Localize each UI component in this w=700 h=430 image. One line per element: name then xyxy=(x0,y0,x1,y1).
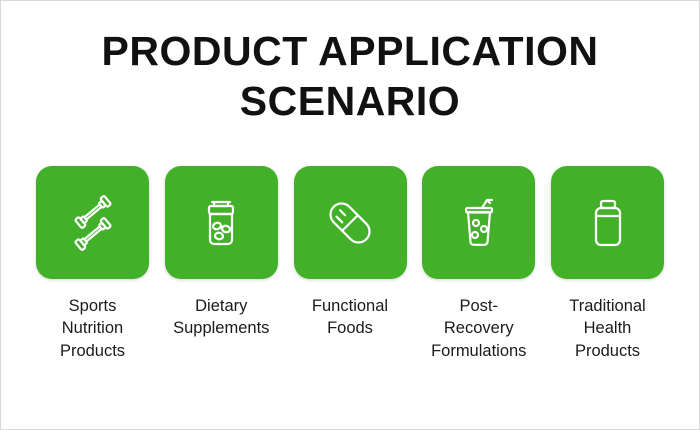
card-label-line: Supplements xyxy=(156,317,286,339)
scenario-card-dietary-supplements[interactable]: Dietary Supplements xyxy=(165,166,278,362)
infographic-page: PRODUCT APPLICATION SCENARIO xyxy=(0,0,700,430)
supplement-bottle-pills-icon xyxy=(188,190,254,256)
card-label: Dietary Supplements xyxy=(156,295,286,340)
title-line-2: SCENARIO xyxy=(0,76,700,126)
medicine-jar-icon xyxy=(575,190,641,256)
title-line-1: PRODUCT APPLICATION xyxy=(0,26,700,76)
card-label-line: Foods xyxy=(285,317,415,339)
card-label-line: Products xyxy=(543,340,673,362)
card-label-line: Nutrition xyxy=(28,317,158,339)
card-label-line: Recovery xyxy=(414,317,544,339)
scenario-card-functional-foods[interactable]: Functional Foods xyxy=(294,166,407,362)
card-label-line: Products xyxy=(28,340,158,362)
card-label-line: Health xyxy=(543,317,673,339)
scenario-card-sports-nutrition[interactable]: Sports Nutrition Products xyxy=(36,166,149,362)
dumbbell-icon xyxy=(60,190,126,256)
card-label-line: Dietary xyxy=(156,295,286,317)
icon-tile xyxy=(165,166,278,279)
icon-tile xyxy=(36,166,149,279)
card-label-line: Formulations xyxy=(414,340,544,362)
card-label: Traditional Health Products xyxy=(543,295,673,362)
card-label: Post- Recovery Formulations xyxy=(414,295,544,362)
drink-cup-straw-icon xyxy=(446,190,512,256)
card-label-line: Post- xyxy=(414,295,544,317)
card-label: Functional Foods xyxy=(285,295,415,340)
scenario-card-list: Sports Nutrition Products Dietary xyxy=(36,166,664,362)
icon-tile xyxy=(551,166,664,279)
card-label-line: Traditional xyxy=(543,295,673,317)
icon-tile xyxy=(294,166,407,279)
card-label: Sports Nutrition Products xyxy=(28,295,158,362)
card-label-line: Functional xyxy=(285,295,415,317)
card-label-line: Sports xyxy=(28,295,158,317)
page-title: PRODUCT APPLICATION SCENARIO xyxy=(0,26,700,126)
scenario-card-post-recovery[interactable]: Post- Recovery Formulations xyxy=(422,166,535,362)
icon-tile xyxy=(422,166,535,279)
scenario-card-traditional-health[interactable]: Traditional Health Products xyxy=(551,166,664,362)
capsule-pill-icon xyxy=(317,190,383,256)
